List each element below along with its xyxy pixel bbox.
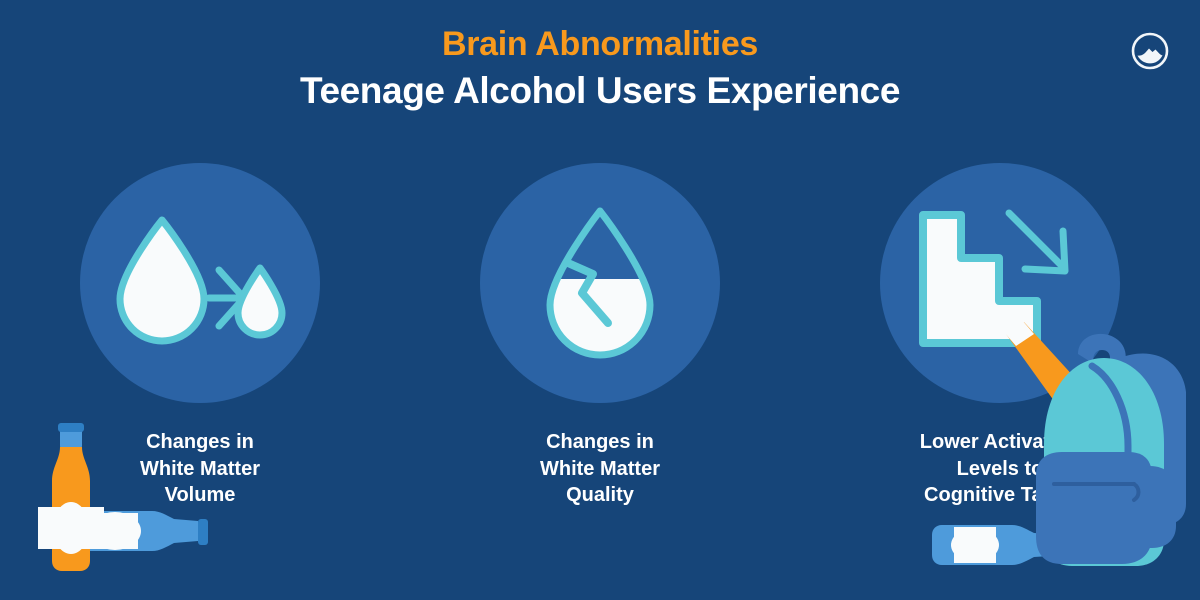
cracked-half-full-droplet-icon: [525, 201, 675, 366]
header: Brain Abnormalities Teenage Alcohol User…: [0, 24, 1200, 113]
column-white-matter-volume: Changes in White Matter Volume: [0, 163, 400, 509]
icon-circle-1[interactable]: [80, 163, 320, 403]
caption-2-line-1: Changes in: [470, 429, 730, 456]
caption-2: Changes in White Matter Quality: [470, 429, 730, 509]
page-title-subtitle: Teenage Alcohol Users Experience: [0, 68, 1200, 113]
infographic-canvas: Brain Abnormalities Teenage Alcohol User…: [0, 0, 1200, 600]
caption-1-line-2: White Matter: [70, 456, 330, 483]
mountain-circle-logo[interactable]: [1130, 31, 1170, 71]
shrinking-water-droplets-icon: [110, 206, 290, 361]
caption-2-line-3: Quality: [470, 482, 730, 509]
icon-circle-2[interactable]: [480, 163, 720, 403]
caption-1: Changes in White Matter Volume: [70, 429, 330, 509]
caption-1-line-1: Changes in: [70, 429, 330, 456]
column-white-matter-quality: Changes in White Matter Quality: [400, 163, 800, 509]
caption-2-line-2: White Matter: [470, 456, 730, 483]
backpack-with-bottle: [1000, 318, 1200, 600]
page-title-highlight: Brain Abnormalities: [0, 24, 1200, 64]
caption-1-line-3: Volume: [70, 482, 330, 509]
